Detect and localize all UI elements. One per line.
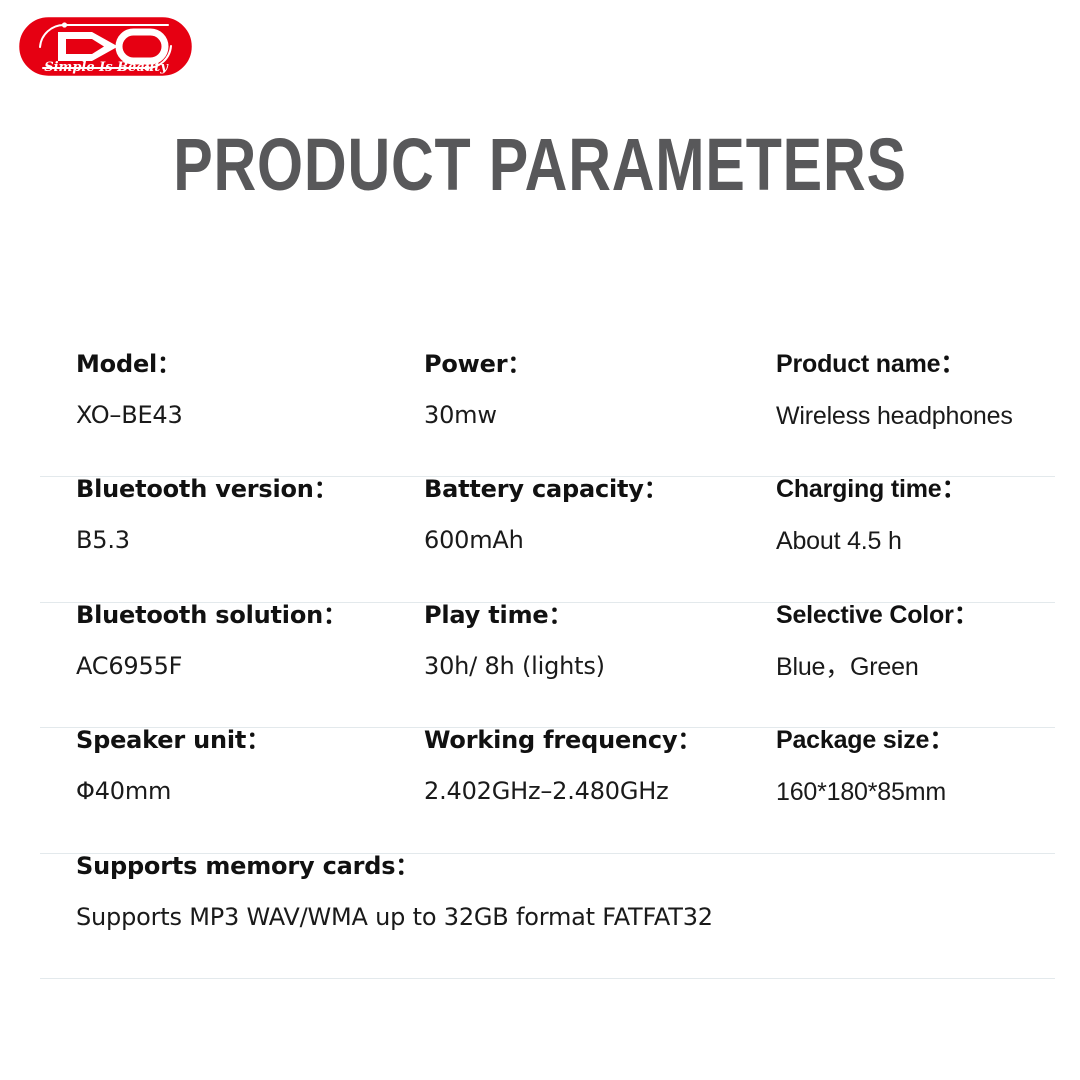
table-row: Supports memory cards： Supports MP3 WAV/… [40, 854, 1055, 979]
spec-label: Bluetooth solution： [76, 603, 416, 627]
spec-label: Working frequency： [424, 728, 764, 752]
spec-cell: Working frequency： 2.402GHz–2.480GHz [424, 728, 764, 803]
spec-label: Play time： [424, 603, 764, 627]
table-row: Bluetooth version： B5.3 Battery capacity… [40, 477, 1055, 602]
spec-label: Package size： [776, 728, 1076, 753]
spec-cell: Package size： 160*180*85mm [776, 728, 1076, 805]
spec-label: Supports memory cards： [76, 854, 1036, 878]
spec-label: Battery capacity： [424, 477, 764, 501]
spec-label: Model： [76, 352, 416, 376]
spec-label: Power： [424, 352, 764, 376]
xo-logo-icon: Simple Is Beauty [18, 16, 193, 77]
spec-label: Selective Color： [776, 603, 1076, 628]
table-row: Bluetooth solution： AC6955F Play time： 3… [40, 603, 1055, 728]
spec-cell: Play time： 30h/ 8h (lights) [424, 603, 764, 678]
spec-value: AC6955F [76, 654, 416, 678]
spec-cell: Power： 30mw [424, 352, 764, 427]
spec-value: Supports MP3 WAV/WMA up to 32GB format F… [76, 905, 1036, 929]
spec-label: Speaker unit： [76, 728, 416, 752]
spec-value: 2.402GHz–2.480GHz [424, 779, 764, 803]
spec-value: XO–BE43 [76, 403, 416, 427]
spec-cell: Model： XO–BE43 [76, 352, 416, 427]
spec-value: 160*180*85mm [776, 780, 1076, 805]
spec-cell: Selective Color： Blue，Green [776, 603, 1076, 680]
spec-value: Φ40mm [76, 779, 416, 803]
spec-label: Charging time： [776, 477, 1076, 502]
spec-value: Blue，Green [776, 655, 1076, 680]
spec-cell: Product name： Wireless headphones [776, 352, 1076, 429]
spec-value: About 4.5 h [776, 529, 1076, 554]
spec-label: Product name： [776, 352, 1076, 377]
brand-logo: Simple Is Beauty [18, 16, 193, 77]
table-row: Model： XO–BE43 Power： 30mw Product name：… [40, 352, 1055, 477]
spec-cell: Charging time： About 4.5 h [776, 477, 1076, 554]
logo-tagline: Simple Is Beauty [44, 60, 169, 75]
spec-value: 30mw [424, 403, 764, 427]
logo-dot-top [62, 22, 67, 27]
spec-value: Wireless headphones [776, 404, 1076, 429]
spec-label: Bluetooth version： [76, 477, 416, 501]
product-parameters-table: Model： XO–BE43 Power： 30mw Product name：… [40, 352, 1055, 979]
spec-cell: Speaker unit： Φ40mm [76, 728, 416, 803]
spec-cell: Battery capacity： 600mAh [424, 477, 764, 552]
spec-cell: Bluetooth solution： AC6955F [76, 603, 416, 678]
spec-value: 600mAh [424, 528, 764, 552]
spec-value: 30h/ 8h (lights) [424, 654, 764, 678]
spec-cell: Supports memory cards： Supports MP3 WAV/… [76, 854, 1036, 929]
table-row: Speaker unit： Φ40mm Working frequency： 2… [40, 728, 1055, 853]
spec-cell: Bluetooth version： B5.3 [76, 477, 416, 552]
spec-value: B5.3 [76, 528, 416, 552]
page-title: PRODUCT PARAMETERS [108, 128, 972, 202]
